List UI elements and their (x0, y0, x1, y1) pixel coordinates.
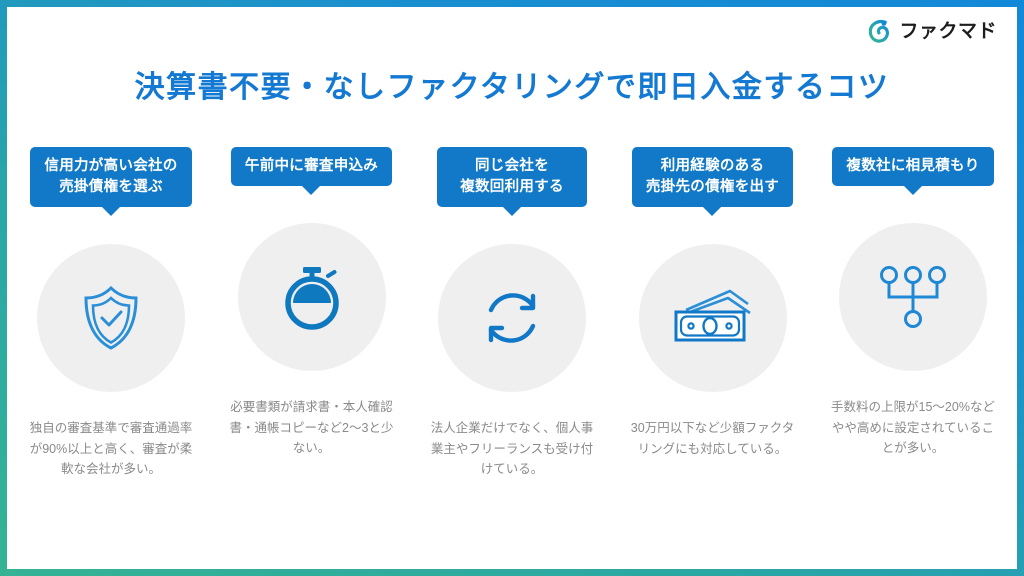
badge-wrap-3: 同じ会社を 複数回利用する (437, 147, 587, 216)
badge-line: 信用力が高い会社の (44, 156, 177, 177)
tip-badge-3[interactable]: 同じ会社を 複数回利用する (437, 147, 587, 207)
tip-column-2: 午前中に審査申込み (216, 147, 408, 480)
badge-wrap-1: 信用力が高い会社の 売掛債権を選ぶ (30, 147, 191, 216)
shield-check-icon (79, 283, 143, 353)
badge-tail-icon (302, 186, 320, 195)
brand-logo: ファクマド (866, 17, 997, 45)
icon-circle-1 (37, 244, 185, 392)
tip-column-1: 信用力が高い会社の 売掛債権を選ぶ 独自の審査基準で審査通過率が90%以上と (15, 147, 207, 480)
badge-line: 複数社に相見積もり (846, 156, 979, 177)
tip-column-3: 同じ会社を 複数回利用する (416, 147, 608, 480)
badge-line: 売掛先の債権を出す (646, 177, 779, 198)
badge-line: 午前中に審査申込み (245, 156, 378, 177)
badge-line: 利用経験のある (646, 156, 779, 177)
page-title: 決算書不要・なしファクタリングで即日入金するコツ (7, 69, 1017, 107)
badge-tail-icon (102, 207, 120, 216)
org-hierarchy-icon (876, 263, 950, 331)
swirl-droplet-icon (866, 17, 894, 45)
badge-tail-icon (503, 207, 521, 216)
tip-caption-5: 手数料の上限が15〜20%などやや高めに設定されていることが多い。 (827, 397, 999, 459)
tip-badge-1[interactable]: 信用力が高い会社の 売掛債権を選ぶ (30, 147, 191, 207)
tip-badge-5[interactable]: 複数社に相見積もり (832, 147, 993, 186)
badge-line: 複数回利用する (451, 177, 573, 198)
tip-caption-2: 必要書類が請求書・本人確認書・通帳コピーなど2〜3と少ない。 (226, 397, 398, 459)
tip-column-4: 利用経験のある 売掛先の債権を出す (617, 147, 809, 480)
badge-wrap-4: 利用経験のある 売掛先の債権を出す (632, 147, 793, 216)
refresh-cycle-icon (478, 284, 546, 352)
badge-line: 同じ会社を (451, 156, 573, 177)
tip-badge-2[interactable]: 午前中に審査申込み (231, 147, 392, 186)
tip-column-5: 複数社に相見積もり (817, 147, 1009, 480)
badge-line: 売掛債権を選ぶ (44, 177, 177, 198)
slide-stage: ファクマド 決算書不要・なしファクタリングで即日入金するコツ 信用力が高い会社の… (7, 7, 1017, 569)
slide-root: ファクマド 決算書不要・なしファクタリングで即日入金するコツ 信用力が高い会社の… (0, 0, 1024, 576)
badge-wrap-2: 午前中に審査申込み (231, 147, 392, 195)
badge-wrap-5: 複数社に相見積もり (832, 147, 993, 195)
icon-circle-2 (238, 223, 386, 371)
icon-circle-3 (438, 244, 586, 392)
tip-caption-1: 独自の審査基準で審査通過率が90%以上と高く、審査が柔軟な会社が多い。 (25, 418, 197, 480)
tips-columns: 信用力が高い会社の 売掛債権を選ぶ 独自の審査基準で審査通過率が90%以上と (15, 147, 1009, 480)
logo-wordmark: ファクマド (899, 22, 997, 41)
icon-circle-4 (639, 244, 787, 392)
icon-circle-5 (839, 223, 987, 371)
tip-badge-4[interactable]: 利用経験のある 売掛先の債権を出す (632, 147, 793, 207)
banknotes-icon (672, 288, 754, 348)
badge-tail-icon (703, 207, 721, 216)
stopwatch-icon (279, 262, 345, 332)
badge-tail-icon (904, 186, 922, 195)
tip-caption-4: 30万円以下など少額ファクタリングにも対応している。 (627, 418, 799, 459)
tip-caption-3: 法人企業だけでなく、個人事業主やフリーランスも受け付けている。 (426, 418, 598, 480)
